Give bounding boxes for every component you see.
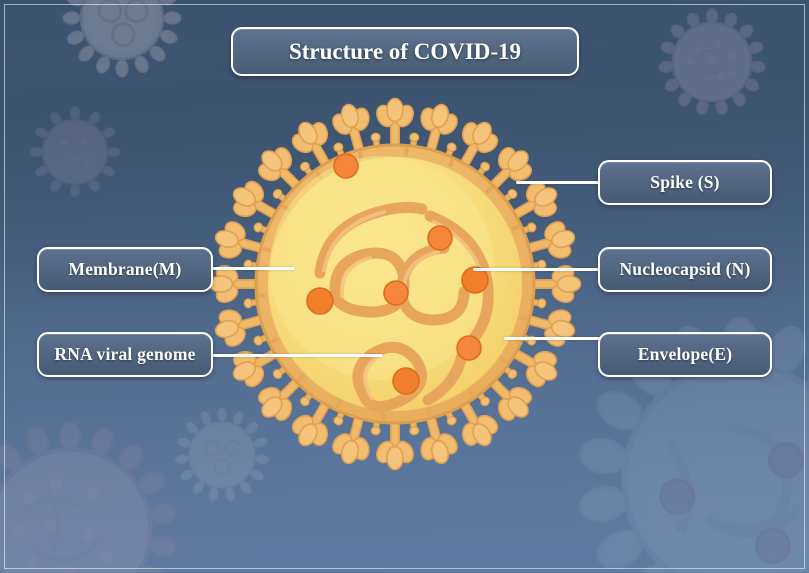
connector-line-rna <box>211 354 383 357</box>
decor-virus-top-right <box>656 6 768 118</box>
label-membrane[interactable]: Membrane(M) <box>37 247 213 292</box>
label-envelope-text: Envelope(E) <box>638 344 733 365</box>
label-spike-text: Spike (S) <box>650 172 719 193</box>
connector-line-nucleocapsid <box>473 268 600 271</box>
label-nucleocapsid-text: Nucleocapsid (N) <box>619 259 750 280</box>
connector-line-membrane <box>211 267 295 270</box>
decor-virus-bottom-left <box>0 415 185 573</box>
connector-line-envelope <box>504 337 600 340</box>
connector-line-spike <box>516 181 600 184</box>
coronavirus-illustration <box>232 98 558 470</box>
label-rna-viral-genome[interactable]: RNA viral genome <box>37 332 213 377</box>
infographic-canvas: Structure of COVID-19 Membrane(M) RNA vi… <box>0 0 809 573</box>
label-rna-viral-genome-text: RNA viral genome <box>54 344 195 365</box>
label-membrane-text: Membrane(M) <box>69 259 182 280</box>
label-envelope[interactable]: Envelope(E) <box>598 332 772 377</box>
label-nucleocapsid[interactable]: Nucleocapsid (N) <box>598 247 772 292</box>
decor-virus-top-left <box>62 0 182 78</box>
decor-virus-upper-left <box>29 106 121 198</box>
page-title-text: Structure of COVID-19 <box>289 39 521 65</box>
page-title: Structure of COVID-19 <box>231 27 579 76</box>
label-spike[interactable]: Spike (S) <box>598 160 772 205</box>
